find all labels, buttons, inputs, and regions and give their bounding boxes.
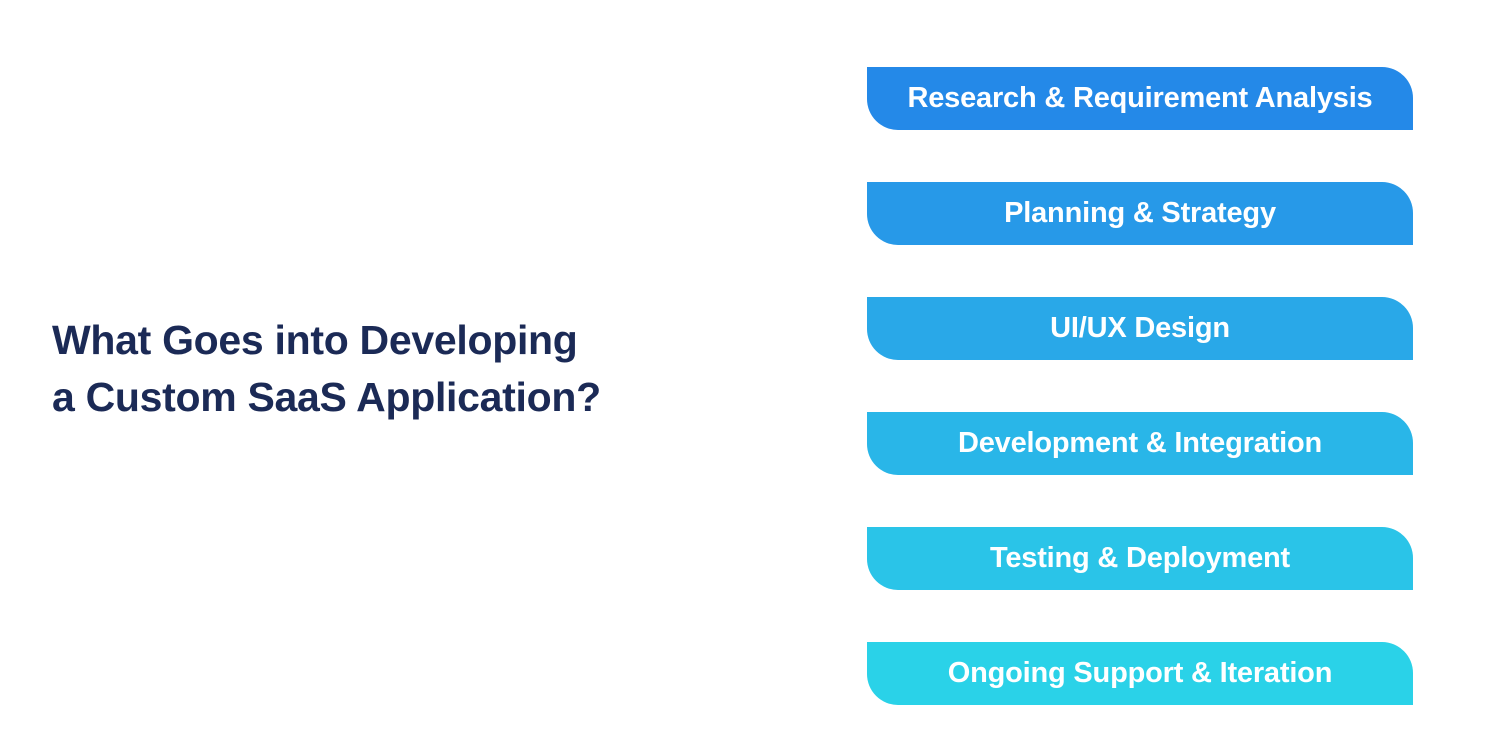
heading-block: What Goes into Developing a Custom SaaS … [52,312,752,425]
process-step-3: UI/UX Design [867,297,1413,360]
process-step-1: Research & Requirement Analysis [867,67,1413,130]
process-step-label: Testing & Deployment [976,544,1304,573]
infographic-slide: What Goes into Developing a Custom SaaS … [0,0,1500,750]
page-title: What Goes into Developing a Custom SaaS … [52,312,752,425]
process-step-label: Development & Integration [944,429,1336,458]
process-step-6: Ongoing Support & Iteration [867,642,1413,705]
process-step-list: Research & Requirement Analysis Planning… [867,67,1413,705]
process-step-label: Planning & Strategy [990,199,1290,228]
process-step-5: Testing & Deployment [867,527,1413,590]
process-step-label: Research & Requirement Analysis [894,84,1387,113]
process-step-4: Development & Integration [867,412,1413,475]
process-step-label: UI/UX Design [1036,314,1244,343]
process-step-label: Ongoing Support & Iteration [934,659,1346,688]
process-step-2: Planning & Strategy [867,182,1413,245]
